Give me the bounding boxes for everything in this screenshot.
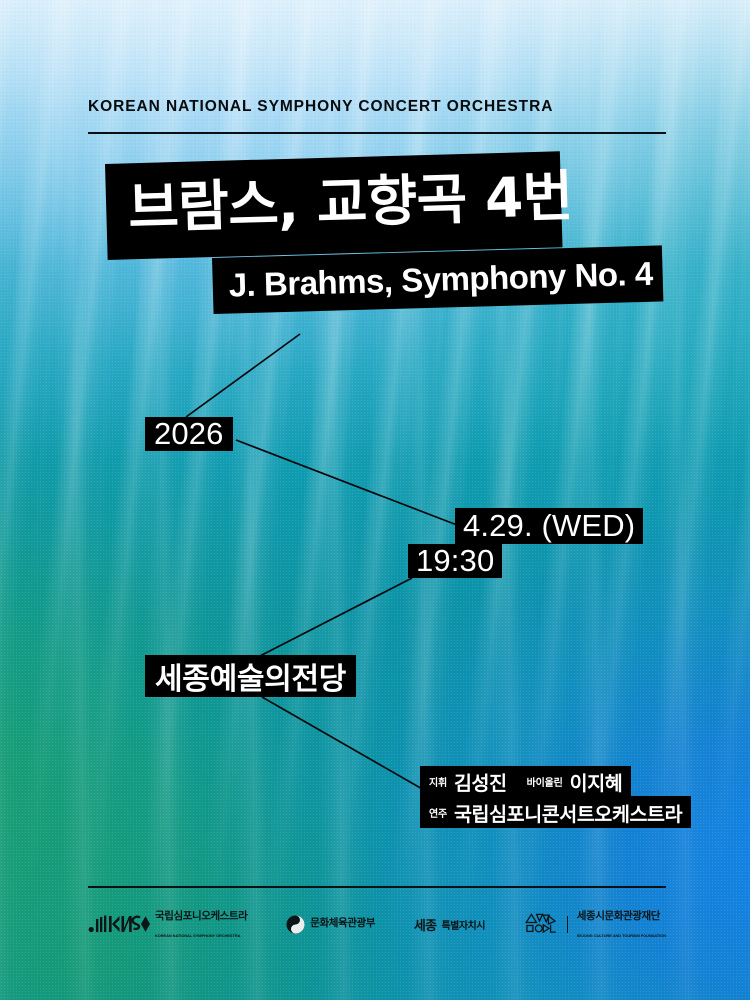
logo-divider xyxy=(567,916,568,933)
date-text: 4.29. (WED) xyxy=(463,508,635,544)
concert-poster: KOREAN NATIONAL SYMPHONY CONCERT ORCHEST… xyxy=(0,0,750,1000)
conductor-label: 지휘 xyxy=(429,774,447,789)
background-grain-texture xyxy=(0,0,750,1000)
venue-label: 세종예술의전당 xyxy=(145,655,356,697)
kns-logo-text: 국립심포니오케스트라 KOREAN NATIONAL SYMPHONY ORCH… xyxy=(155,906,247,942)
credits-row-ensemble: 연주 국립심포니콘서트오케스트라 xyxy=(420,796,691,828)
logo-sejong-culture-tourism-foundation: 세종시문화관광재단 SEJONG CULTURE AND TOURISM FOU… xyxy=(524,906,666,942)
time-label: 19:30 xyxy=(408,544,502,578)
ensemble-name: 국립심포니콘서트오케스트라 xyxy=(454,798,682,827)
title-english: J. Brahms, Symphony No. 4 xyxy=(228,251,653,309)
ensemble-label: 연주 xyxy=(429,805,447,820)
year-text: 2026 xyxy=(154,416,224,452)
title-banner-korean: 브람스, 교향곡 4번 xyxy=(105,151,563,260)
time-text: 19:30 xyxy=(416,543,494,579)
venue-text: 세종예술의전당 xyxy=(155,654,346,698)
ministry-logo-ko: 문화체육관광부 xyxy=(310,918,375,930)
conductor-name: 김성진 xyxy=(454,767,507,796)
credits-row-performers: 지휘 김성진 바이올린 이지혜 xyxy=(420,766,631,796)
year-label: 2026 xyxy=(145,417,233,451)
violin-name: 이지혜 xyxy=(570,767,623,796)
logo-korean-national-symphony: 국립심포니오케스트라 KOREAN NATIONAL SYMPHONY ORCH… xyxy=(88,906,247,942)
kns-logo-ko: 국립심포니오케스트라 xyxy=(155,910,247,922)
poster-kicker: KOREAN NATIONAL SYMPHONY CONCERT ORCHEST… xyxy=(88,98,553,116)
sejong-foundation-text: 세종시문화관광재단 SEJONG CULTURE AND TOURISM FOU… xyxy=(577,906,666,942)
sejong-city-small: 특별자치시 xyxy=(441,917,485,932)
logo-ministry-culture-sports-tourism: 문화체육관광부 xyxy=(286,915,375,934)
kns-logo-en: KOREAN NATIONAL SYMPHONY ORCHESTRA xyxy=(155,933,240,938)
taegeuk-icon xyxy=(286,915,305,934)
date-label: 4.29. (WED) xyxy=(455,508,643,544)
logo-sejong-city: 세종 특별자치시 xyxy=(414,915,485,934)
violin-label: 바이올린 xyxy=(527,774,563,789)
sponsor-logos: 국립심포니오케스트라 KOREAN NATIONAL SYMPHONY ORCH… xyxy=(88,902,666,946)
title-korean: 브람스, 교향곡 4번 xyxy=(127,159,573,246)
header-divider xyxy=(88,132,666,134)
sejong-foundation-en: SEJONG CULTURE AND TOURISM FOUNDATION xyxy=(577,933,666,938)
sejong-foundation-icon xyxy=(524,912,558,936)
sejong-foundation-ko: 세종시문화관광재단 xyxy=(577,910,660,922)
kns-logo-icon xyxy=(88,914,150,934)
footer-divider xyxy=(88,886,666,888)
sejong-city-big: 세종 xyxy=(414,915,437,934)
